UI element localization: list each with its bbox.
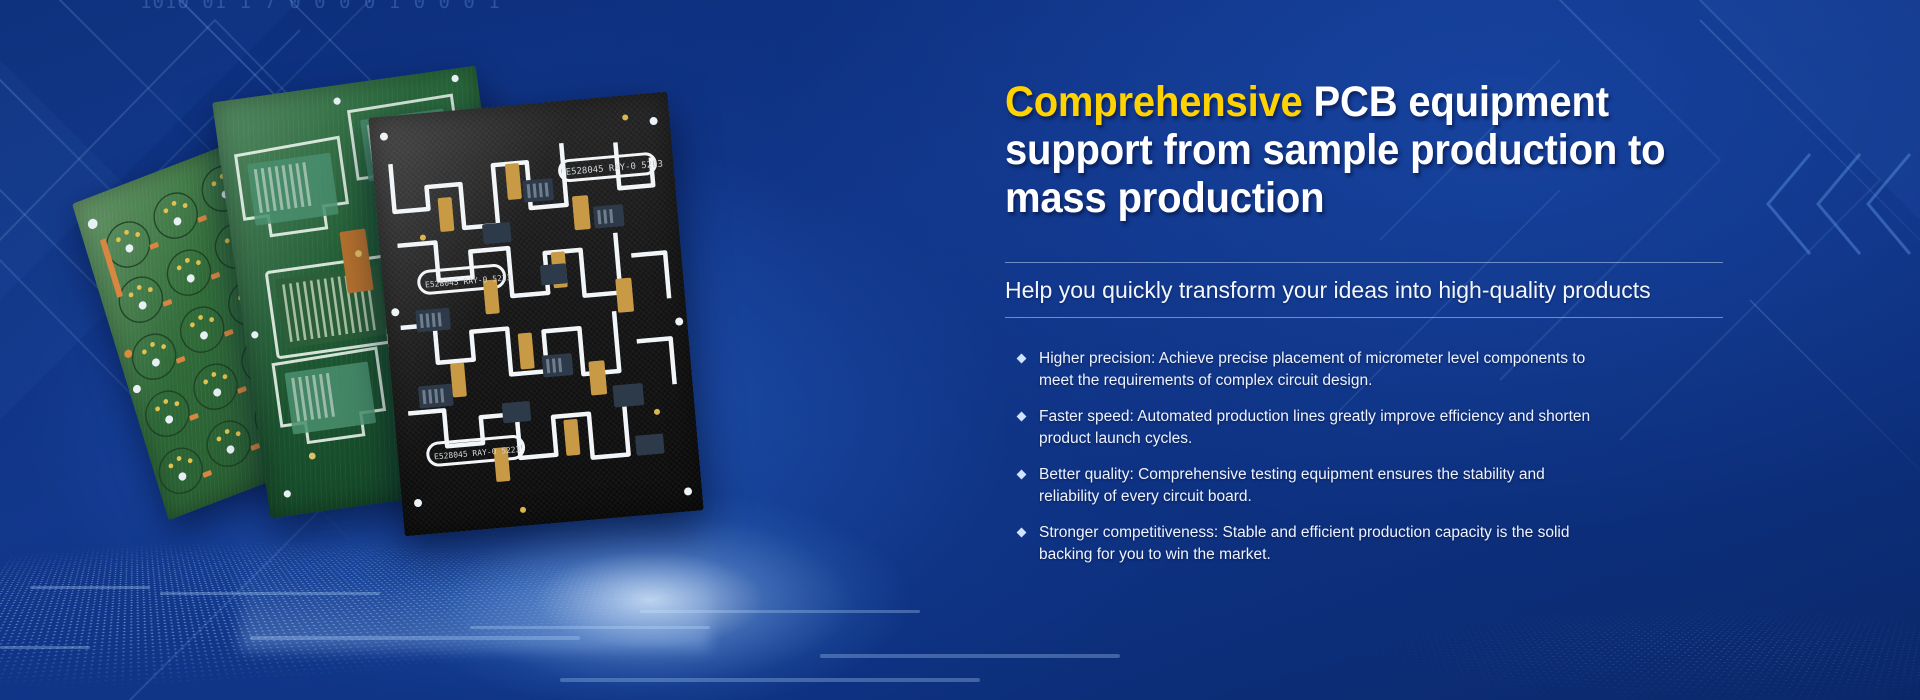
list-item: Higher precision: Achieve precise placem… [1005,348,1745,391]
chevron-left-icon [1760,148,1920,260]
pcb-silkscreen-label: E528045 RAY-0 5223 [565,159,663,177]
diamond-bullet-icon [1017,354,1027,364]
mesh-dot-grid-right [1283,593,1920,700]
diamond-bullet-icon [1017,470,1027,480]
list-item-text: Higher precision: Achieve precise placem… [1039,348,1599,391]
chevron-arrows-decoration [1760,148,1920,260]
banner-subtitle: Help you quickly transform your ideas in… [1005,263,1745,317]
pcb-boards-image: E528045 RAY-0 5223 E528045 RAY-0 5223 E5… [90,60,790,580]
diamond-bullet-icon [1017,528,1027,538]
list-item: Faster speed: Automated production lines… [1005,406,1745,449]
list-item: Better quality: Comprehensive testing eq… [1005,464,1745,507]
page-title: Comprehensive PCB equipment support from… [1005,78,1693,222]
watermark-text: 1010 01 1 7 0 0 0 0 1 0 0 0 1 [140,0,501,13]
list-item: Stronger competitiveness: Stable and eff… [1005,522,1745,565]
divider-bottom [1005,317,1723,318]
headline-highlight: Comprehensive [1005,78,1303,126]
pcb-boards-reflection [240,530,710,650]
feature-list: Higher precision: Achieve precise placem… [1005,348,1745,565]
list-item-text: Stronger competitiveness: Stable and eff… [1039,522,1599,565]
list-item-text: Better quality: Comprehensive testing eq… [1039,464,1599,507]
list-item-text: Faster speed: Automated production lines… [1039,406,1599,449]
banner-content: Comprehensive PCB equipment support from… [1005,78,1745,580]
diamond-bullet-icon [1017,412,1027,422]
pcb-black-traces: E528045 RAY-0 5223 E528045 RAY-0 5223 E5… [368,92,703,537]
pcb-promo-banner: 1010 01 1 7 0 0 0 0 1 0 0 0 1 [0,0,1920,700]
pcb-board-black: E528045 RAY-0 5223 E528045 RAY-0 5223 E5… [368,92,703,537]
